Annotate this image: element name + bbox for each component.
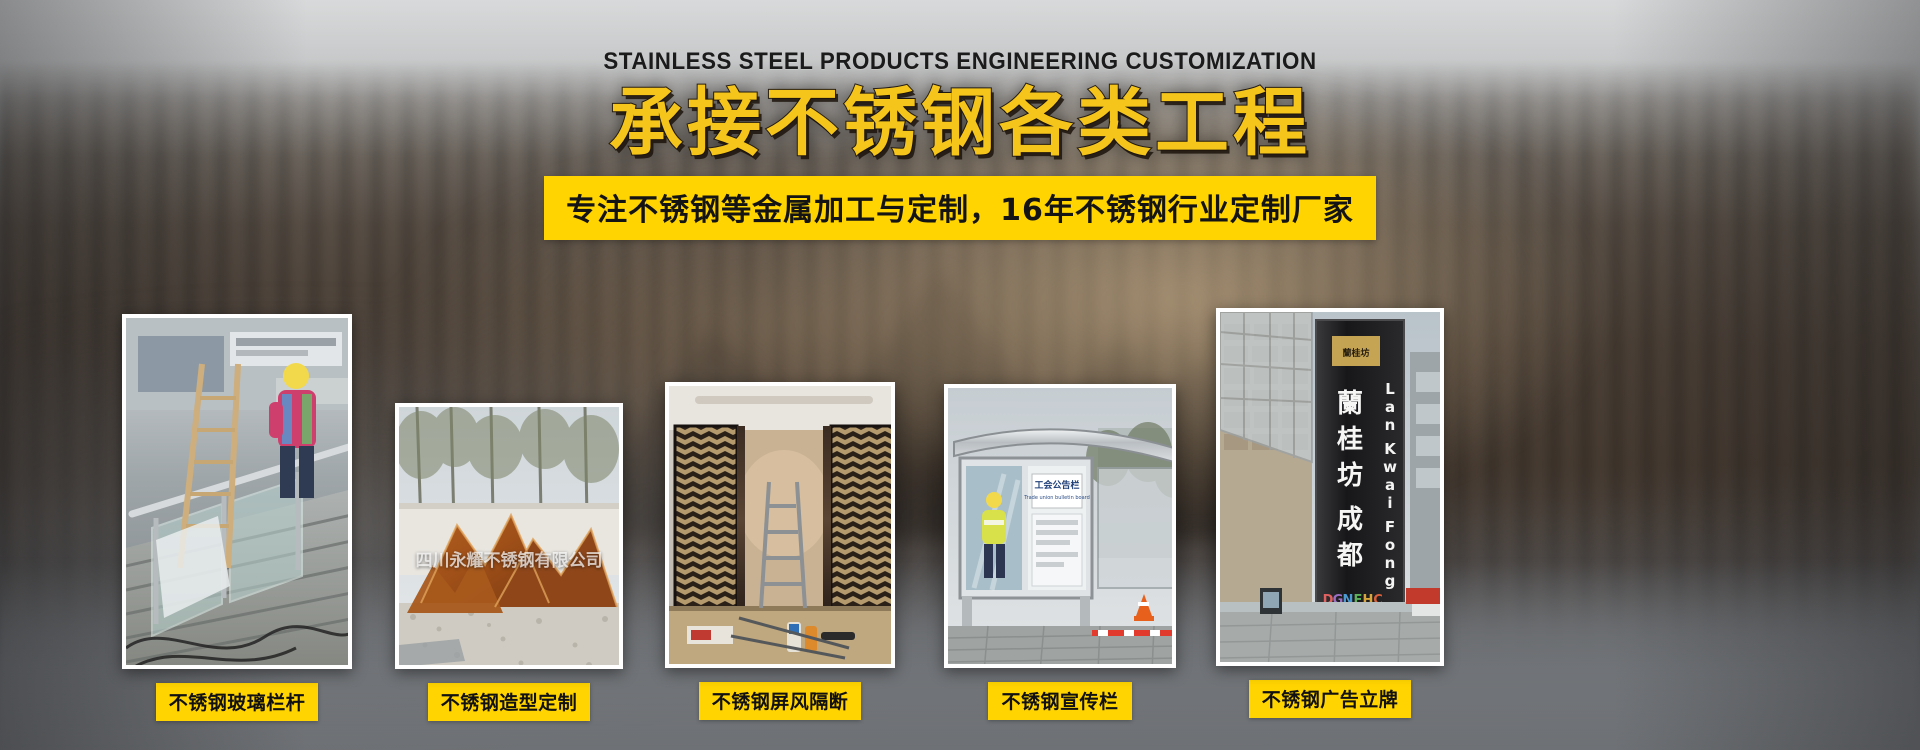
subtitle-badge: 专注不锈钢等金属加工与定制，16年不锈钢行业定制厂家 xyxy=(544,176,1376,240)
gallery-item-custom-shape[interactable]: 四川永耀不锈钢有限公司 不锈钢造型定制 xyxy=(395,403,623,721)
svg-text:a: a xyxy=(1385,398,1395,416)
svg-text:w: w xyxy=(1383,458,1397,476)
svg-text:i: i xyxy=(1387,494,1392,512)
gallery-caption: 不锈钢造型定制 xyxy=(428,683,591,721)
headline-block: STAINLESS STEEL PRODUCTS ENGINEERING CUS… xyxy=(0,0,1920,240)
svg-text:n: n xyxy=(1385,416,1396,434)
photo-frame: 蘭桂坊 L a n K w a i F o n g xyxy=(1216,308,1444,666)
page-title: 承接不锈钢各类工程 xyxy=(0,84,1920,162)
photo-frame: 四川永耀不锈钢有限公司 xyxy=(395,403,623,669)
gallery-caption: 不锈钢玻璃栏杆 xyxy=(156,683,319,721)
gallery-item-screen-partition[interactable]: 不锈钢屏风隔断 xyxy=(665,382,895,720)
gallery-caption: 不锈钢宣传栏 xyxy=(988,682,1131,720)
svg-text:Trade union bulletin board: Trade union bulletin board xyxy=(1023,495,1090,501)
svg-text:都: 都 xyxy=(1336,541,1363,571)
gallery-item-bulletin-board[interactable]: 工会公告栏 Trade union bulletin board xyxy=(944,384,1176,720)
photo-frame xyxy=(122,314,352,669)
photo-bulletin-board: 工会公告栏 Trade union bulletin board xyxy=(948,388,1176,668)
gallery-caption: 不锈钢屏风隔断 xyxy=(699,682,862,720)
photo-glass-railing xyxy=(126,318,352,669)
photo-screen-partition xyxy=(669,386,895,668)
promo-banner: STAINLESS STEEL PRODUCTS ENGINEERING CUS… xyxy=(0,0,1920,750)
gallery-caption: 不锈钢广告立牌 xyxy=(1249,680,1412,718)
photo-frame xyxy=(665,382,895,668)
gallery-item-advertising-pylon[interactable]: 蘭桂坊 L a n K w a i F o n g xyxy=(1216,308,1444,718)
svg-text:K: K xyxy=(1384,440,1397,458)
svg-text:坊: 坊 xyxy=(1337,460,1363,491)
svg-text:L: L xyxy=(1385,380,1395,398)
photo-frame: 工会公告栏 Trade union bulletin board xyxy=(944,384,1176,668)
subtitle-row: 专注不锈钢等金属加工与定制，16年不锈钢行业定制厂家 xyxy=(0,176,1920,240)
gallery-item-glass-railing[interactable]: 不锈钢玻璃栏杆 xyxy=(122,314,352,721)
svg-text:工会公告栏: 工会公告栏 xyxy=(1034,479,1079,491)
svg-text:桂: 桂 xyxy=(1337,425,1363,455)
svg-text:蘭: 蘭 xyxy=(1337,389,1363,419)
svg-text:g: g xyxy=(1385,572,1396,590)
svg-text:a: a xyxy=(1385,476,1395,494)
svg-text:n: n xyxy=(1385,554,1396,572)
photo-corten-sculpture xyxy=(399,407,623,669)
svg-text:蘭桂坊: 蘭桂坊 xyxy=(1342,347,1369,359)
svg-text:成: 成 xyxy=(1337,505,1363,535)
svg-text:F: F xyxy=(1385,518,1395,536)
eyebrow-text: STAINLESS STEEL PRODUCTS ENGINEERING CUS… xyxy=(67,48,1853,76)
product-gallery: 不锈钢玻璃栏杆 xyxy=(0,330,1920,750)
photo-advertising-pylon: 蘭桂坊 L a n K w a i F o n g xyxy=(1220,312,1444,666)
svg-text:o: o xyxy=(1385,536,1395,554)
